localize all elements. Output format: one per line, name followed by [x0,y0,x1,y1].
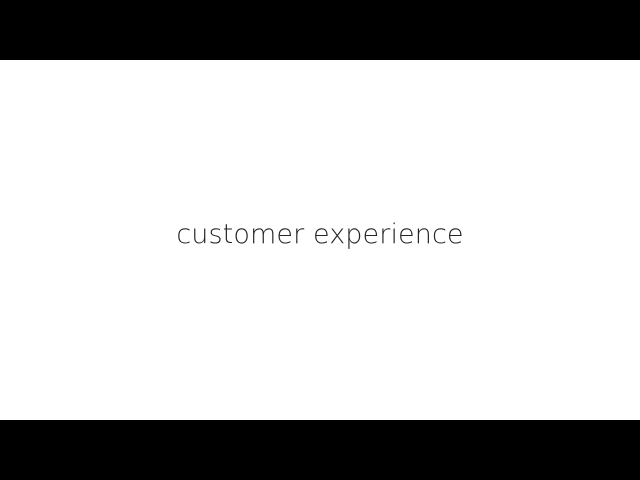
slide-stage: customer experience [0,60,640,420]
letterbox-bar-top [0,0,640,60]
video-frame: customer experience [0,0,640,480]
title-slide: customer experience [0,60,640,420]
slide-title-text: customer experience [176,220,463,250]
letterbox-bar-bottom [0,420,640,480]
